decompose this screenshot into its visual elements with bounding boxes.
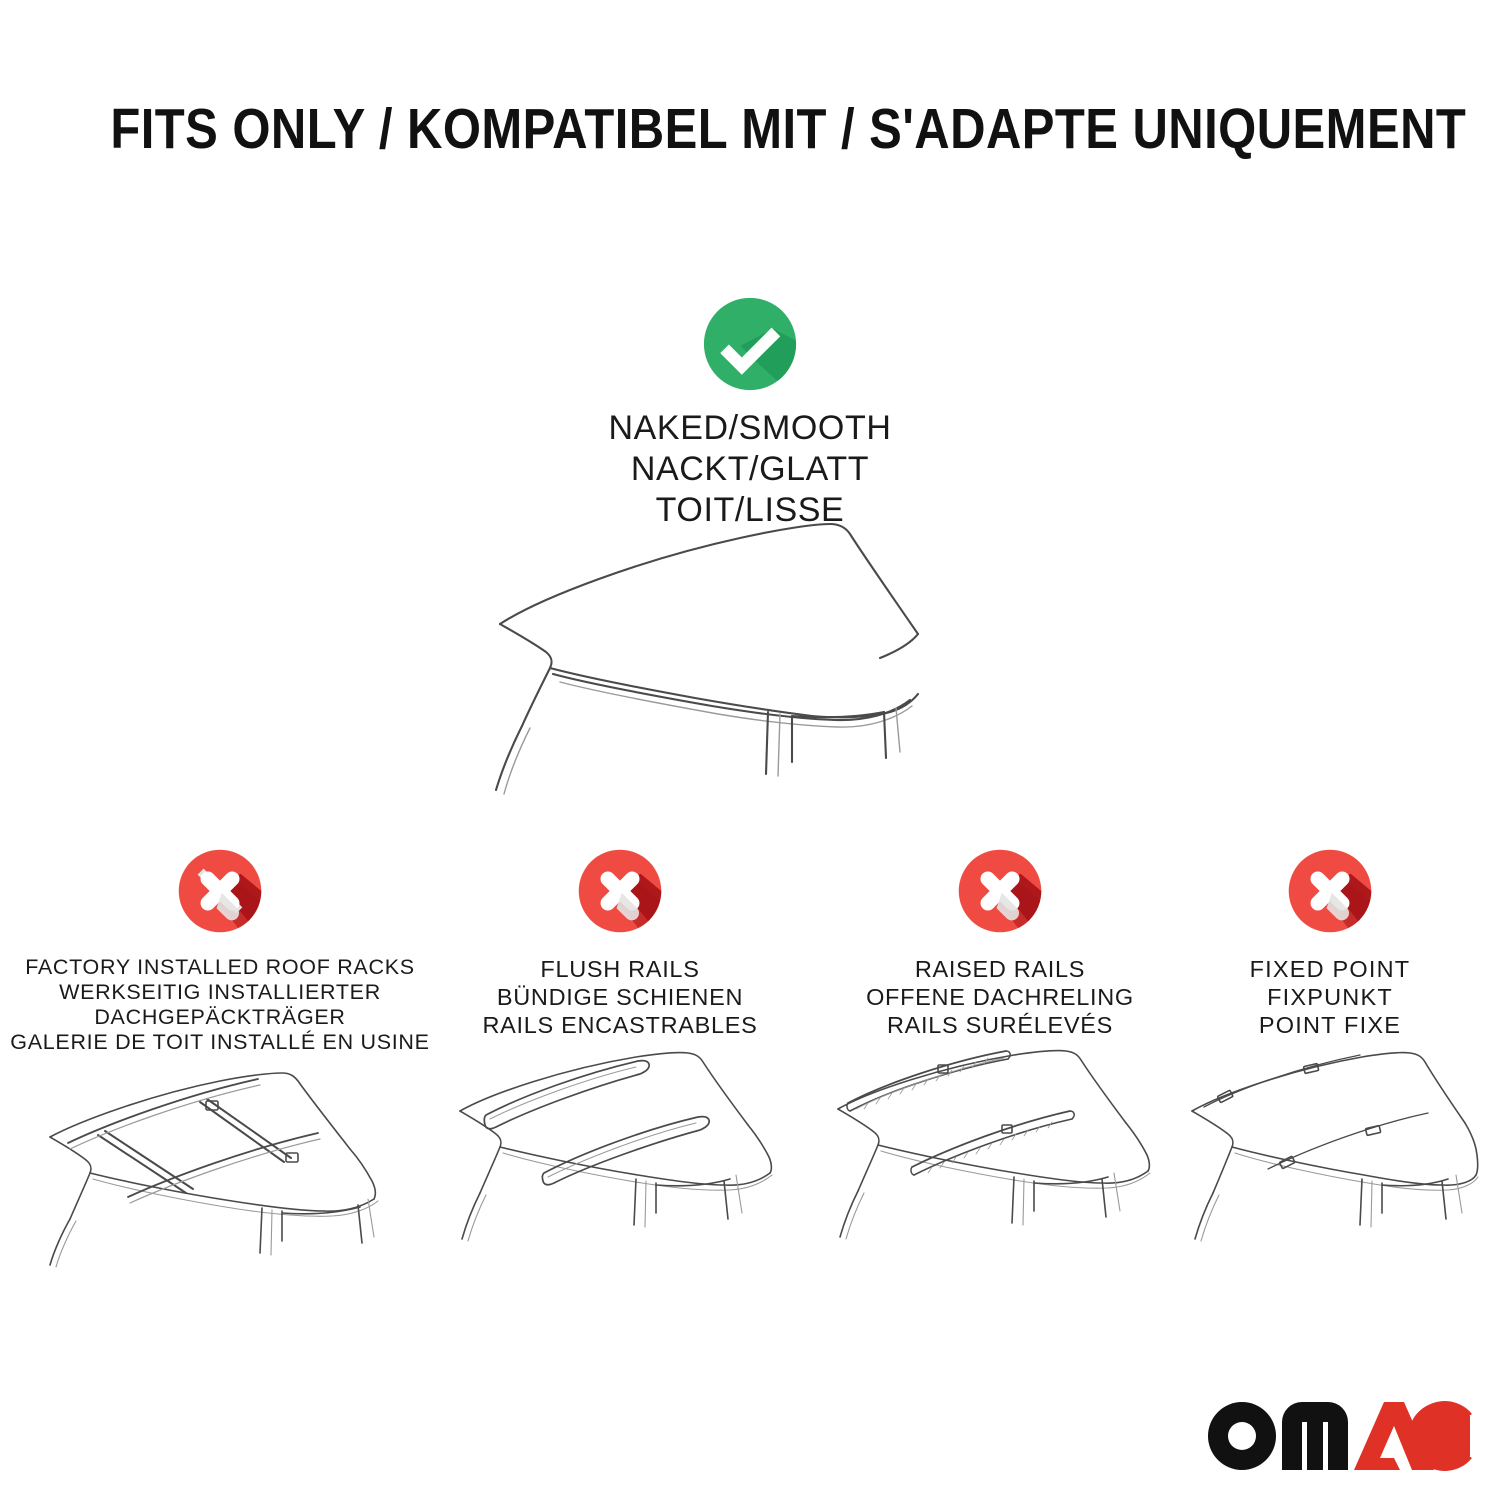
rejected-label-flush-rails: FLUSH RAILS BÜNDIGE SCHIENEN RAILS ENCAS… <box>440 955 800 1039</box>
label-line-3: RAILS ENCASTRABLES <box>440 1011 800 1039</box>
label-line-1: RAISED RAILS <box>820 955 1180 983</box>
label-line-2: BÜNDIGE SCHIENEN <box>440 983 800 1011</box>
check-circle-icon <box>702 296 798 392</box>
badge-wrap <box>1180 848 1480 944</box>
x-circle-icon <box>1287 848 1373 934</box>
x-circle-icon <box>957 848 1043 934</box>
approved-label-line-2: NACKT/GLATT <box>430 449 1070 490</box>
roof-illustration-fixed-point <box>1180 1049 1480 1259</box>
rejected-roof-type-factory-installed-roof-racks: FACTORY INSTALLED ROOF RACKS WERKSEITIG … <box>10 845 430 1275</box>
label-line-3: POINT FIXE <box>1180 1011 1480 1039</box>
label-line-3: RAILS SURÉLEVÉS <box>820 1011 1180 1039</box>
badge-wrap <box>10 848 430 944</box>
approved-roof-illustration <box>440 512 1060 812</box>
approved-roof-type-block: NAKED/SMOOTH NACKT/GLATT TOIT/LISSE <box>430 296 1070 531</box>
x-circle-icon <box>577 848 663 934</box>
x-circle-icon <box>177 848 263 934</box>
label-line-1: FACTORY INSTALLED ROOF RACKS <box>10 955 430 980</box>
label-line-2: OFFENE DACHRELING <box>820 983 1180 1011</box>
label-line-1: FIXED POINT <box>1180 955 1480 983</box>
badge-wrap <box>440 848 800 944</box>
rejected-roof-type-flush-rails: FLUSH RAILS BÜNDIGE SCHIENEN RAILS ENCAS… <box>440 845 800 1259</box>
approved-label-line-1: NAKED/SMOOTH <box>430 408 1070 449</box>
rejected-label-raised-rails: RAISED RAILS OFFENE DACHRELING RAILS SUR… <box>820 955 1180 1039</box>
label-line-1: FLUSH RAILS <box>440 955 800 983</box>
omac-logo <box>1204 1396 1472 1478</box>
roof-illustration-flush-rails <box>440 1049 800 1259</box>
compatibility-chart-page: FITS ONLY / KOMPATIBEL MIT / S'ADAPTE UN… <box>0 0 1500 1500</box>
page-title: FITS ONLY / KOMPATIBEL MIT / S'ADAPTE UN… <box>0 96 1500 162</box>
rejected-label-factory-installed-roof-racks: FACTORY INSTALLED ROOF RACKS WERKSEITIG … <box>10 955 430 1055</box>
label-line-2: FIXPUNKT <box>1180 983 1480 1011</box>
label-line-3: DACHGEPÄCKTRÄGER <box>10 1005 430 1030</box>
roof-illustration-factory-installed-roof-racks <box>10 1065 430 1275</box>
label-line-2: WERKSEITIG INSTALLIERTER <box>10 980 430 1005</box>
badge-wrap <box>820 848 1180 944</box>
rejected-roof-types-row: FACTORY INSTALLED ROOF RACKS WERKSEITIG … <box>0 845 1500 1295</box>
rejected-roof-type-raised-rails: RAISED RAILS OFFENE DACHRELING RAILS SUR… <box>820 845 1180 1259</box>
rejected-roof-type-fixed-point: FIXED POINT FIXPUNKT POINT FIXE <box>1180 845 1480 1259</box>
page-title-text: FITS ONLY / KOMPATIBEL MIT / S'ADAPTE UN… <box>110 96 1466 162</box>
label-line-4: GALERIE DE TOIT INSTALLÉ EN USINE <box>10 1030 430 1055</box>
rejected-label-fixed-point: FIXED POINT FIXPUNKT POINT FIXE <box>1180 955 1480 1039</box>
roof-illustration-raised-rails <box>820 1049 1180 1259</box>
